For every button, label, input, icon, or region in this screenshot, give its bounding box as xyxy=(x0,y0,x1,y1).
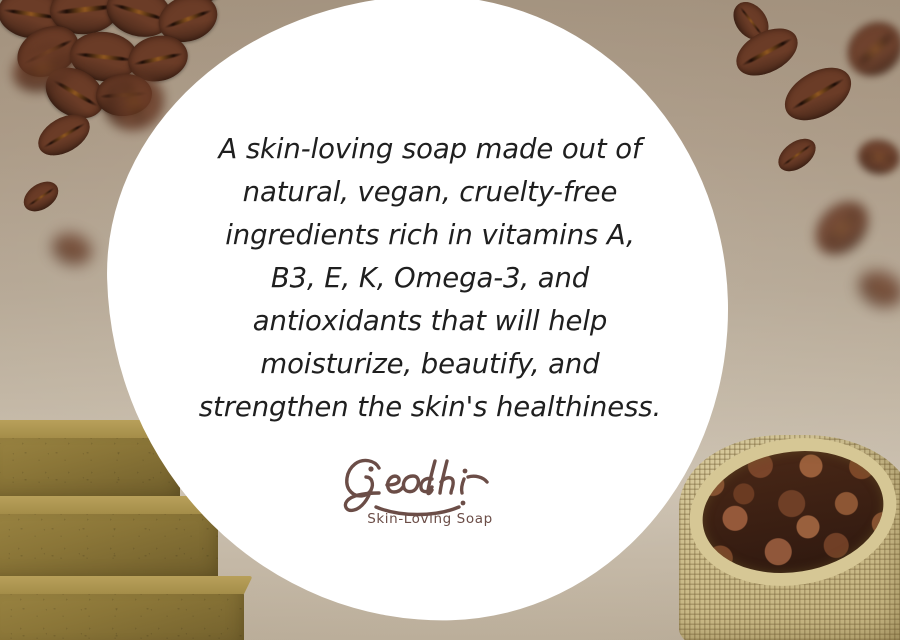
soap-bar-face xyxy=(0,592,244,640)
i-dot xyxy=(463,469,468,474)
logo-tagline: Skin-Loving Soap xyxy=(150,511,710,527)
geodhi-wordmark-icon xyxy=(335,455,525,517)
headline-text: A skin-loving soap made out of natural, … xyxy=(150,128,710,429)
promo-poster: A skin-loving soap made out of natural, … xyxy=(0,0,900,640)
soap-bar xyxy=(0,592,244,640)
soap-bar-top xyxy=(0,576,253,594)
swash-dot xyxy=(461,501,466,506)
g-dot xyxy=(368,466,373,471)
poster-content: A skin-loving soap made out of natural, … xyxy=(150,128,710,545)
brand-logo: Skin-Loving Soap xyxy=(150,455,710,545)
burlap-sack-of-coffee-beans xyxy=(679,435,900,640)
